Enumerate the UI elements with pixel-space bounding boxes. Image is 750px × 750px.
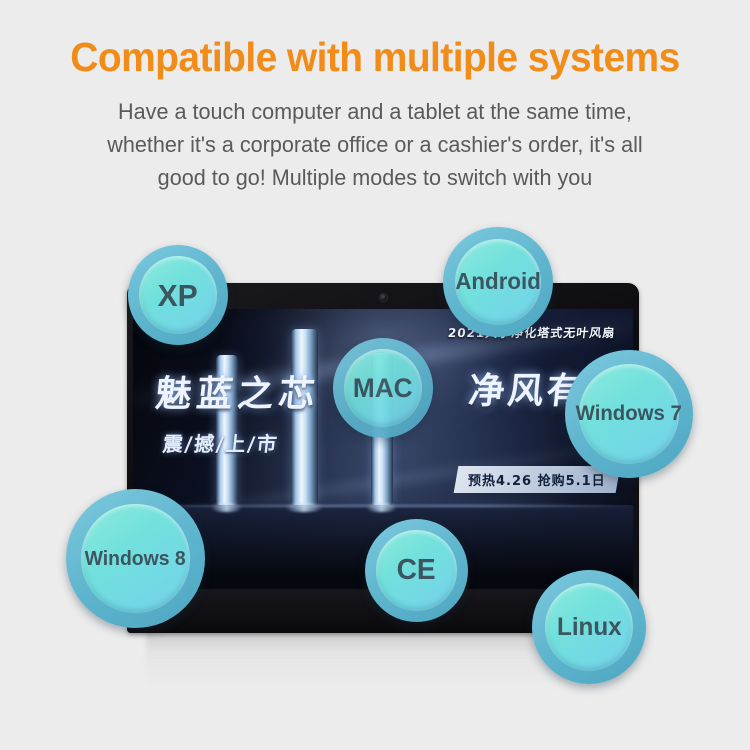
product-stage: 2021大宇净化塔式无叶风扇 魅蓝之芯 震/撼/上/市 净风有速 预热4.26 … <box>0 0 750 750</box>
os-badge-label: CE <box>397 556 436 585</box>
fan-base <box>285 503 324 512</box>
badge-inner: Windows 8 <box>81 504 189 612</box>
ad-promo-banner: 预热4.26 抢购5.1日 <box>454 466 620 493</box>
badge-inner: MAC <box>344 349 422 427</box>
fan-base <box>211 503 243 512</box>
os-badge-label: Windows 8 <box>85 549 186 569</box>
badge-inner: Android <box>455 239 541 325</box>
badge-inner: Linux <box>545 583 634 672</box>
badge-inner: CE <box>376 530 456 610</box>
os-badge-label: XP <box>158 280 198 311</box>
fan-body <box>291 329 318 505</box>
ad-headline-left: 魅蓝之芯 <box>153 365 322 417</box>
os-badge-label: Windows 7 <box>576 403 682 424</box>
os-badge-windows-7[interactable]: Windows 7 <box>565 350 693 478</box>
os-badge-android[interactable]: Android <box>443 227 553 337</box>
fan-base <box>366 503 398 512</box>
os-badge-label: MAC <box>353 375 413 402</box>
badge-inner: Windows 7 <box>579 364 679 464</box>
os-badge-mac[interactable]: MAC <box>333 338 433 438</box>
tower-fan-product <box>291 329 318 505</box>
badge-inner: XP <box>139 256 217 334</box>
os-badge-label: Linux <box>557 615 622 640</box>
os-badge-label: Android <box>455 270 541 293</box>
ad-promo-text: 预热4.26 抢购5.1日 <box>468 470 606 489</box>
os-badge-ce[interactable]: CE <box>365 519 468 622</box>
camera-icon <box>379 293 388 302</box>
os-badge-linux[interactable]: Linux <box>532 570 646 684</box>
os-badge-xp[interactable]: XP <box>128 245 228 345</box>
ad-subhead-left: 震/撼/上/市 <box>161 428 280 457</box>
os-badge-windows-8[interactable]: Windows 8 <box>66 489 205 628</box>
